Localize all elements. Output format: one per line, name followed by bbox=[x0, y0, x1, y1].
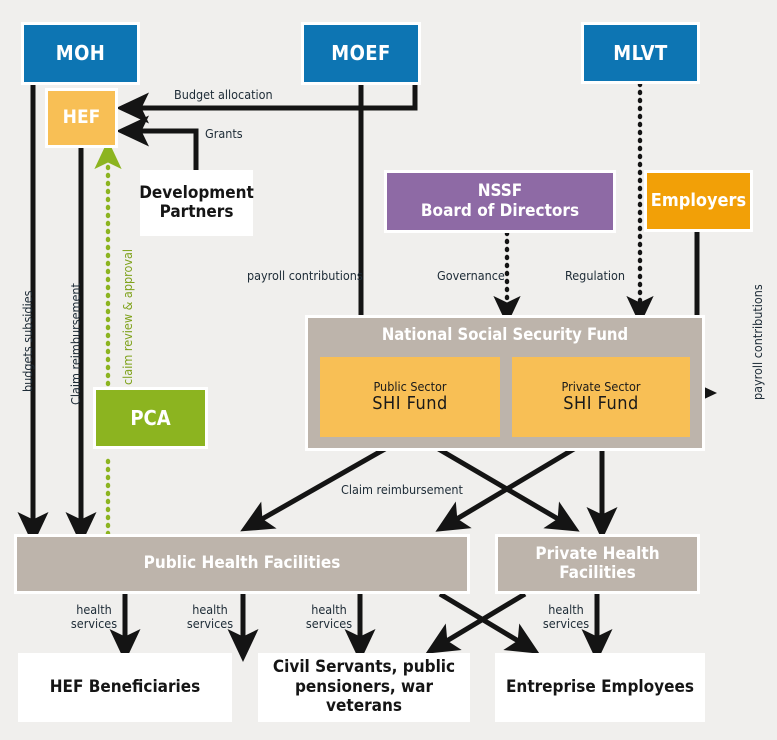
node-employers[interactable]: Employers bbox=[644, 170, 753, 232]
node-hef-beneficiaries[interactable]: HEF Beneficiaries bbox=[18, 653, 232, 722]
label-health-services-1: health services bbox=[68, 603, 120, 632]
node-nssf-board-line1: NSSF bbox=[478, 182, 523, 201]
node-private-shi-title: SHI Fund bbox=[563, 394, 639, 415]
node-public-sector-shi-fund[interactable]: Public Sector SHI Fund bbox=[320, 357, 500, 437]
node-pca[interactable]: PCA bbox=[93, 387, 208, 449]
node-hef-label: HEF bbox=[63, 107, 101, 129]
label-budget-allocation: Budget allocation bbox=[174, 88, 273, 102]
label-health-services-2: health services bbox=[184, 603, 236, 632]
label-regulation: Regulation bbox=[565, 269, 625, 283]
node-development-partners[interactable]: Development Partners bbox=[140, 170, 253, 236]
label-claim-reimbursement-vertical: Claim reimbursement bbox=[68, 283, 83, 405]
node-private-health-facilities[interactable]: Private Health Facilities bbox=[495, 534, 700, 594]
label-budgets-subsidies: budgets subsidies bbox=[20, 291, 35, 392]
node-mlvt-label: MLVT bbox=[613, 42, 667, 65]
label-claim-review-approval: claim review & approval bbox=[120, 249, 135, 385]
edge-private-facilities-to-civil-servants bbox=[440, 594, 525, 645]
node-public-health-facilities-label: Public Health Facilities bbox=[144, 554, 341, 573]
label-payroll-contributions-left: payroll contributions bbox=[247, 269, 363, 283]
node-moh-label: MOH bbox=[56, 42, 105, 65]
node-entreprise-employees[interactable]: Entreprise Employees bbox=[495, 653, 705, 722]
node-nssf-board-line2: Board of Directors bbox=[421, 202, 579, 221]
node-employers-label: Employers bbox=[651, 191, 746, 212]
label-claim-reimbursement-center: Claim reimbursement bbox=[341, 483, 463, 497]
node-mlvt[interactable]: MLVT bbox=[581, 22, 700, 84]
node-public-shi-subtitle: Public Sector bbox=[374, 380, 447, 394]
node-hef-beneficiaries-label: HEF Beneficiaries bbox=[50, 678, 201, 697]
diagram-canvas: MOH HEF MOEF MLVT Development Partners N… bbox=[0, 0, 777, 740]
node-hef[interactable]: HEF bbox=[45, 88, 118, 148]
node-civil-servants[interactable]: Civil Servants, public pensioners, war v… bbox=[258, 653, 470, 722]
node-nssf-board-of-directors[interactable]: NSSF Board of Directors bbox=[384, 170, 616, 233]
node-moef[interactable]: MOEF bbox=[301, 22, 421, 85]
node-private-sector-shi-fund[interactable]: Private Sector SHI Fund bbox=[512, 357, 690, 437]
node-entreprise-employees-label: Entreprise Employees bbox=[506, 678, 694, 697]
edge-development-partners-grants-to-hef bbox=[133, 131, 196, 170]
node-public-shi-title: SHI Fund bbox=[372, 394, 448, 415]
edge-public-facilities-to-entreprise-employees bbox=[440, 594, 525, 645]
node-public-health-facilities[interactable]: Public Health Facilities bbox=[14, 534, 470, 594]
label-governance: Governance bbox=[437, 269, 505, 283]
node-private-shi-subtitle: Private Sector bbox=[562, 380, 641, 394]
node-moef-label: MOEF bbox=[331, 42, 390, 65]
node-development-partners-label: Development Partners bbox=[139, 184, 254, 223]
node-pca-label: PCA bbox=[130, 407, 170, 430]
node-nssf-container-title: National Social Security Fund bbox=[308, 325, 702, 344]
node-civil-servants-label: Civil Servants, public pensioners, war v… bbox=[261, 658, 467, 716]
label-health-services-4: health services bbox=[540, 603, 592, 632]
label-grants: Grants bbox=[205, 127, 243, 141]
node-private-health-facilities-label: Private Health Facilities bbox=[498, 545, 697, 584]
node-moh[interactable]: MOH bbox=[21, 22, 140, 85]
label-health-services-3: health services bbox=[303, 603, 355, 632]
label-payroll-contributions-right: payroll contributions bbox=[750, 284, 765, 400]
